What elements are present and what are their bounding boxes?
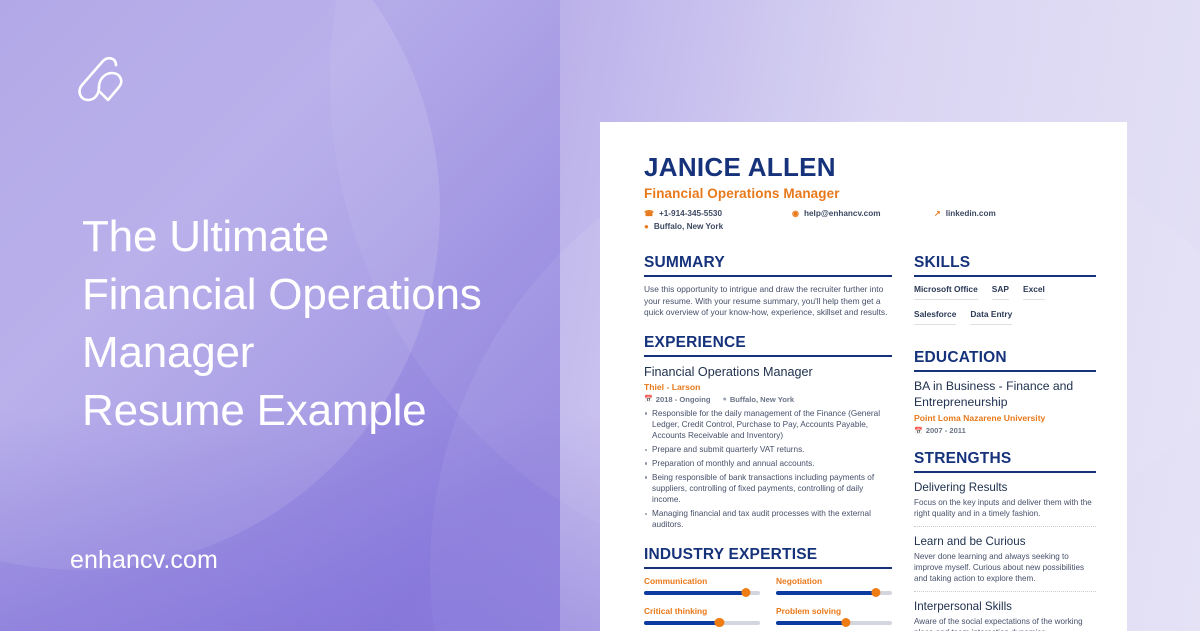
industry-expertise-heading: INDUSTRY EXPERTISE bbox=[644, 545, 892, 564]
experience-heading: EXPERIENCE bbox=[644, 333, 892, 352]
education-section: EDUCATION BA in Business - Finance and E… bbox=[914, 348, 1096, 435]
expertise-slider-grid: Communication Negotiation bbox=[644, 576, 892, 631]
contact-phone-value: +1-914-345-5530 bbox=[659, 209, 722, 218]
job-meta: 📅 2018 - Ongoing ● Buffalo, New York bbox=[644, 395, 892, 404]
expertise-knob bbox=[741, 588, 750, 597]
strength-item: Learn and be Curious Never done learning… bbox=[914, 534, 1096, 592]
resume-header: JANICE ALLEN Financial Operations Manage… bbox=[644, 152, 1096, 239]
summary-heading: SUMMARY bbox=[644, 253, 892, 272]
candidate-role: Financial Operations Manager bbox=[644, 185, 1096, 202]
expertise-track[interactable] bbox=[776, 591, 892, 595]
skill-chip[interactable]: Salesforce bbox=[914, 309, 956, 325]
strengths-heading: STRENGTHS bbox=[914, 449, 1096, 468]
education-school: Point Loma Nazarene University bbox=[914, 412, 1096, 424]
expertise-track[interactable] bbox=[776, 621, 892, 625]
expertise-track[interactable] bbox=[644, 591, 760, 595]
skill-chip[interactable]: Excel bbox=[1023, 284, 1045, 300]
resume-left-column: SUMMARY Use this opportunity to intrigue… bbox=[644, 253, 892, 631]
experience-section: EXPERIENCE Financial Operations Manager … bbox=[644, 333, 892, 531]
job-bullet: Managing financial and tax audit process… bbox=[644, 508, 892, 531]
resume-right-column: SKILLS Microsoft Office SAP Excel Salesf… bbox=[914, 253, 1096, 631]
industry-expertise-rule bbox=[644, 567, 892, 569]
expertise-knob bbox=[871, 588, 880, 597]
job-bullet: Responsible for the daily management of … bbox=[644, 408, 892, 442]
strength-title: Interpersonal Skills bbox=[914, 599, 1096, 614]
job-company: Thiel - Larson bbox=[644, 381, 892, 393]
skills-section: SKILLS Microsoft Office SAP Excel Salesf… bbox=[914, 253, 1096, 334]
industry-expertise-section: INDUSTRY EXPERTISE Communication bbox=[644, 545, 892, 631]
enhancv-infinity-logo-icon bbox=[72, 55, 144, 107]
expertise-label: Critical thinking bbox=[644, 606, 760, 617]
expertise-fill bbox=[776, 591, 876, 595]
strengths-section: STRENGTHS Delivering Results Focus on th… bbox=[914, 449, 1096, 631]
contact-linkedin-value: linkedin.com bbox=[946, 209, 996, 218]
contact-email-value: help@enhancv.com bbox=[804, 209, 881, 218]
strength-item: Delivering Results Focus on the key inpu… bbox=[914, 480, 1096, 527]
skill-chip[interactable]: Microsoft Office bbox=[914, 284, 978, 300]
summary-text: Use this opportunity to intrigue and dra… bbox=[644, 284, 892, 319]
education-dates-value: 2007 - 2011 bbox=[926, 426, 966, 435]
promo-banner: The Ultimate Financial Operations Manage… bbox=[0, 0, 1200, 631]
contact-list: ☎ +1-914-345-5530 ● Buffalo, New York ◉ … bbox=[644, 209, 1096, 239]
expertise-knob bbox=[841, 618, 850, 627]
expertise-knob bbox=[715, 618, 724, 627]
experience-rule bbox=[644, 355, 892, 357]
phone-icon: ☎ bbox=[644, 210, 654, 218]
contact-location: ● Buffalo, New York bbox=[644, 222, 723, 231]
strength-description: Aware of the social expectations of the … bbox=[914, 616, 1096, 631]
link-icon: ↗ bbox=[934, 210, 941, 218]
calendar-icon: 📅 bbox=[914, 427, 923, 435]
education-heading: EDUCATION bbox=[914, 348, 1096, 367]
strength-item: Interpersonal Skills Aware of the social… bbox=[914, 599, 1096, 631]
expertise-slider[interactable]: Negotiation bbox=[776, 576, 892, 595]
promo-headline: The Ultimate Financial Operations Manage… bbox=[82, 208, 602, 440]
email-icon: ◉ bbox=[792, 210, 799, 218]
strength-title: Delivering Results bbox=[914, 480, 1096, 495]
expertise-label: Problem solving bbox=[776, 606, 892, 617]
expertise-slider[interactable]: Critical thinking bbox=[644, 606, 760, 625]
contact-phone: ☎ +1-914-345-5530 bbox=[644, 209, 722, 218]
contact-location-value: Buffalo, New York bbox=[654, 222, 723, 231]
job-bullet: Prepare and submit quarterly VAT returns… bbox=[644, 444, 892, 455]
expertise-label: Communication bbox=[644, 576, 760, 587]
skill-chip[interactable]: Data Entry bbox=[970, 309, 1012, 325]
job-bullet: Preparation of monthly and annual accoun… bbox=[644, 458, 892, 469]
job-location-value: Buffalo, New York bbox=[730, 395, 794, 404]
candidate-name: JANICE ALLEN bbox=[644, 152, 1096, 182]
job-dates-value: 2018 - Ongoing bbox=[656, 395, 711, 404]
education-dates: 📅 2007 - 2011 bbox=[914, 426, 966, 435]
strength-title: Learn and be Curious bbox=[914, 534, 1096, 549]
contact-email[interactable]: ◉ help@enhancv.com bbox=[792, 209, 881, 218]
expertise-track[interactable] bbox=[644, 621, 760, 625]
skills-heading: SKILLS bbox=[914, 253, 1096, 272]
resume-preview-card[interactable]: JANICE ALLEN Financial Operations Manage… bbox=[600, 122, 1127, 631]
skills-rule bbox=[914, 275, 1096, 277]
strength-description: Never done learning and always seeking t… bbox=[914, 551, 1096, 584]
job-bullets: Responsible for the daily management of … bbox=[644, 408, 892, 531]
expertise-label: Negotiation bbox=[776, 576, 892, 587]
expertise-fill bbox=[644, 591, 746, 595]
expertise-fill bbox=[776, 621, 846, 625]
location-pin-icon: ● bbox=[723, 396, 727, 403]
education-degree: BA in Business - Finance and Entrepreneu… bbox=[914, 379, 1096, 410]
background-bottom-shade bbox=[0, 411, 620, 631]
calendar-icon: 📅 bbox=[644, 395, 653, 403]
job-title: Financial Operations Manager bbox=[644, 364, 892, 380]
promo-site-url: enhancv.com bbox=[70, 546, 218, 575]
education-item: BA in Business - Finance and Entrepreneu… bbox=[914, 379, 1096, 435]
education-meta: 📅 2007 - 2011 bbox=[914, 426, 1096, 435]
job-location: ● Buffalo, New York bbox=[723, 395, 795, 404]
expertise-fill bbox=[644, 621, 719, 625]
experience-item: Financial Operations Manager Thiel - Lar… bbox=[644, 364, 892, 531]
location-pin-icon: ● bbox=[644, 223, 649, 231]
skill-chip[interactable]: SAP bbox=[992, 284, 1009, 300]
expertise-slider[interactable]: Problem solving bbox=[776, 606, 892, 625]
education-rule bbox=[914, 370, 1096, 372]
strengths-rule bbox=[914, 471, 1096, 473]
expertise-slider[interactable]: Communication bbox=[644, 576, 760, 595]
strength-description: Focus on the key inputs and deliver them… bbox=[914, 497, 1096, 519]
summary-section: SUMMARY Use this opportunity to intrigue… bbox=[644, 253, 892, 319]
skills-chip-list: Microsoft Office SAP Excel Salesforce Da… bbox=[914, 284, 1096, 334]
summary-rule bbox=[644, 275, 892, 277]
contact-linkedin[interactable]: ↗ linkedin.com bbox=[934, 209, 996, 218]
job-dates: 📅 2018 - Ongoing bbox=[644, 395, 711, 404]
job-bullet: Being responsible of bank transactions i… bbox=[644, 472, 892, 506]
